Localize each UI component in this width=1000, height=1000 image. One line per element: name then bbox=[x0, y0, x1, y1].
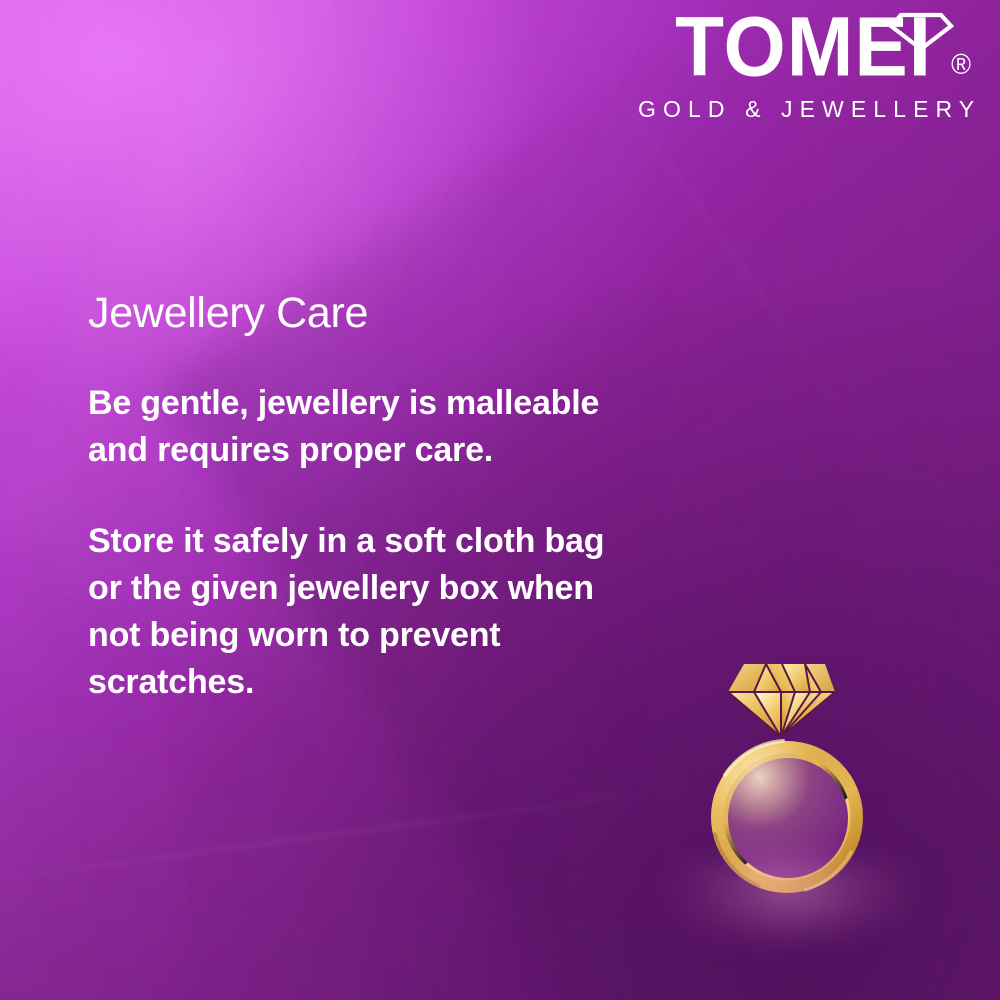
diamond-ring-illustration bbox=[655, 620, 925, 950]
brilliant-cut-diamond-icon bbox=[728, 664, 835, 737]
body-paragraph-1: Be gentle, jewellery is malleable and re… bbox=[88, 380, 648, 474]
page-title: Jewellery Care bbox=[88, 288, 648, 338]
ring-floor-glow bbox=[665, 858, 915, 950]
brand-wordmark: TOMEI ® bbox=[638, 5, 978, 88]
copy-block: Jewellery Care Be gentle, jewellery is m… bbox=[88, 288, 648, 706]
brand-tagline: GOLD & JEWELLERY bbox=[638, 96, 978, 122]
brand-logo: TOMEI ® GOLD & JEWELLERY bbox=[638, 10, 978, 122]
body-paragraph-2: Store it safely in a soft cloth bag or t… bbox=[88, 518, 648, 706]
registered-trademark-icon: ® bbox=[951, 51, 972, 80]
brand-wordmark-text: TOMEI bbox=[675, 0, 932, 93]
jewellery-care-poster: TOMEI ® GOLD & JEWELLERY Jewellery Care … bbox=[0, 0, 1000, 1000]
